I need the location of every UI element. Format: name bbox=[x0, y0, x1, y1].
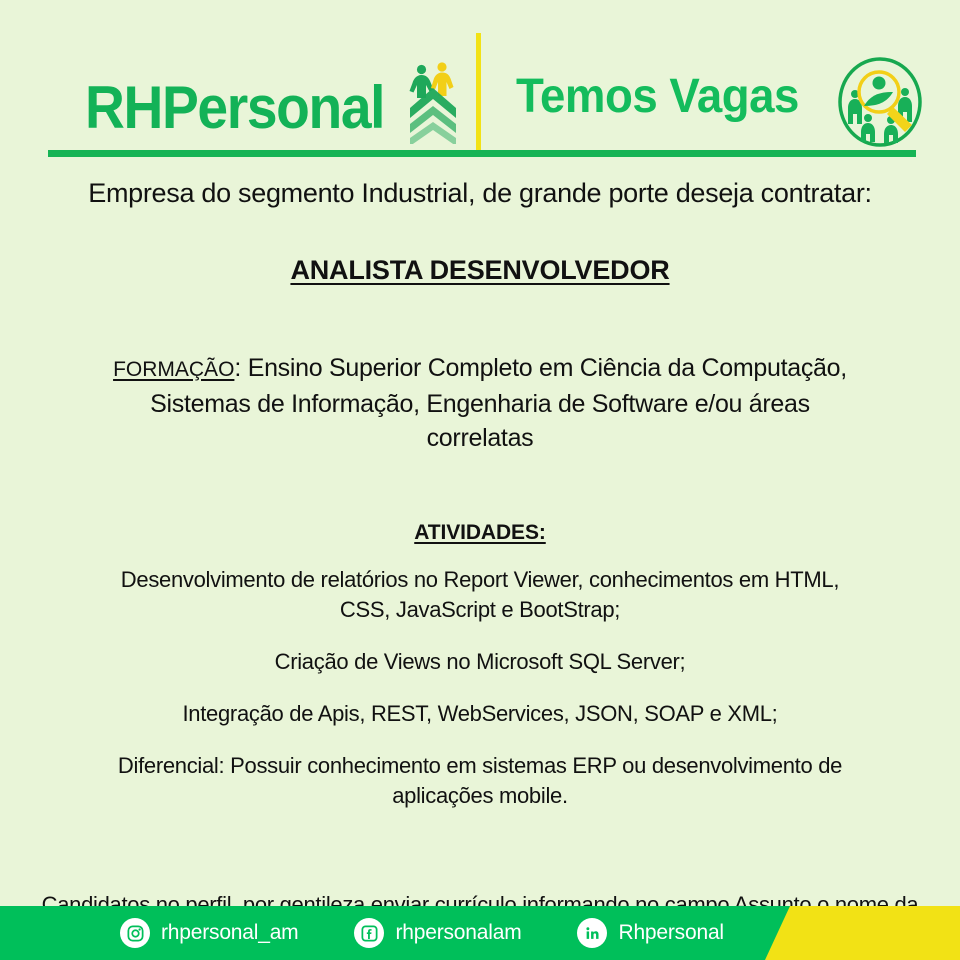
header-tagline: Temos Vagas bbox=[516, 72, 799, 122]
facebook-icon bbox=[354, 918, 384, 948]
header-rule bbox=[48, 150, 916, 157]
intro-text: Empresa do segmento Industrial, de grand… bbox=[80, 176, 880, 211]
social-link-linkedin[interactable]: Rhpersonal bbox=[577, 906, 723, 960]
education-requirement: FORMAÇÃO: Ensino Superior Completo em Ci… bbox=[100, 351, 860, 455]
social-handle: Rhpersonal bbox=[618, 921, 723, 945]
social-links: rhpersonal_am rhpersonalam bbox=[120, 906, 724, 960]
social-link-facebook[interactable]: rhpersonalam bbox=[354, 906, 521, 960]
social-handle: rhpersonal_am bbox=[161, 921, 298, 945]
footer-yellow-wedge bbox=[760, 906, 960, 960]
activity-item: Desenvolvimento de relatórios no Report … bbox=[100, 565, 860, 625]
activity-item: Criação de Views no Microsoft SQL Server… bbox=[100, 647, 860, 677]
instagram-icon bbox=[120, 918, 150, 948]
people-tree-logo-icon bbox=[404, 58, 462, 144]
poster-footer: rhpersonal_am rhpersonalam bbox=[0, 906, 960, 960]
social-handle: rhpersonalam bbox=[395, 921, 521, 945]
activities-heading-text: ATIVIDADES: bbox=[414, 521, 546, 544]
social-link-instagram[interactable]: rhpersonal_am bbox=[120, 906, 298, 960]
job-posting-poster: RHPersonal bbox=[0, 0, 960, 960]
activity-item: Diferencial: Possuir conhecimento em sis… bbox=[100, 751, 860, 811]
activities-heading: ATIVIDADES: bbox=[0, 521, 960, 545]
magnifier-people-circle-logo-icon bbox=[836, 56, 924, 148]
poster-header: RHPersonal bbox=[0, 0, 960, 160]
job-title-text: ANALISTA DESENVOLVEDOR bbox=[290, 255, 669, 285]
job-title: ANALISTA DESENVOLVEDOR bbox=[0, 255, 960, 286]
activity-item: Integração de Apis, REST, WebServices, J… bbox=[100, 699, 860, 729]
header-divider bbox=[476, 33, 481, 155]
poster-content: Empresa do segmento Industrial, de grand… bbox=[0, 160, 960, 953]
linkedin-icon bbox=[577, 918, 607, 948]
education-text: : Ensino Superior Completo em Ciência da… bbox=[150, 354, 847, 452]
brand-name: RHPersonal bbox=[85, 78, 384, 138]
education-label: FORMAÇÃO bbox=[113, 358, 234, 381]
brand-lockup: RHPersonal bbox=[85, 58, 462, 138]
